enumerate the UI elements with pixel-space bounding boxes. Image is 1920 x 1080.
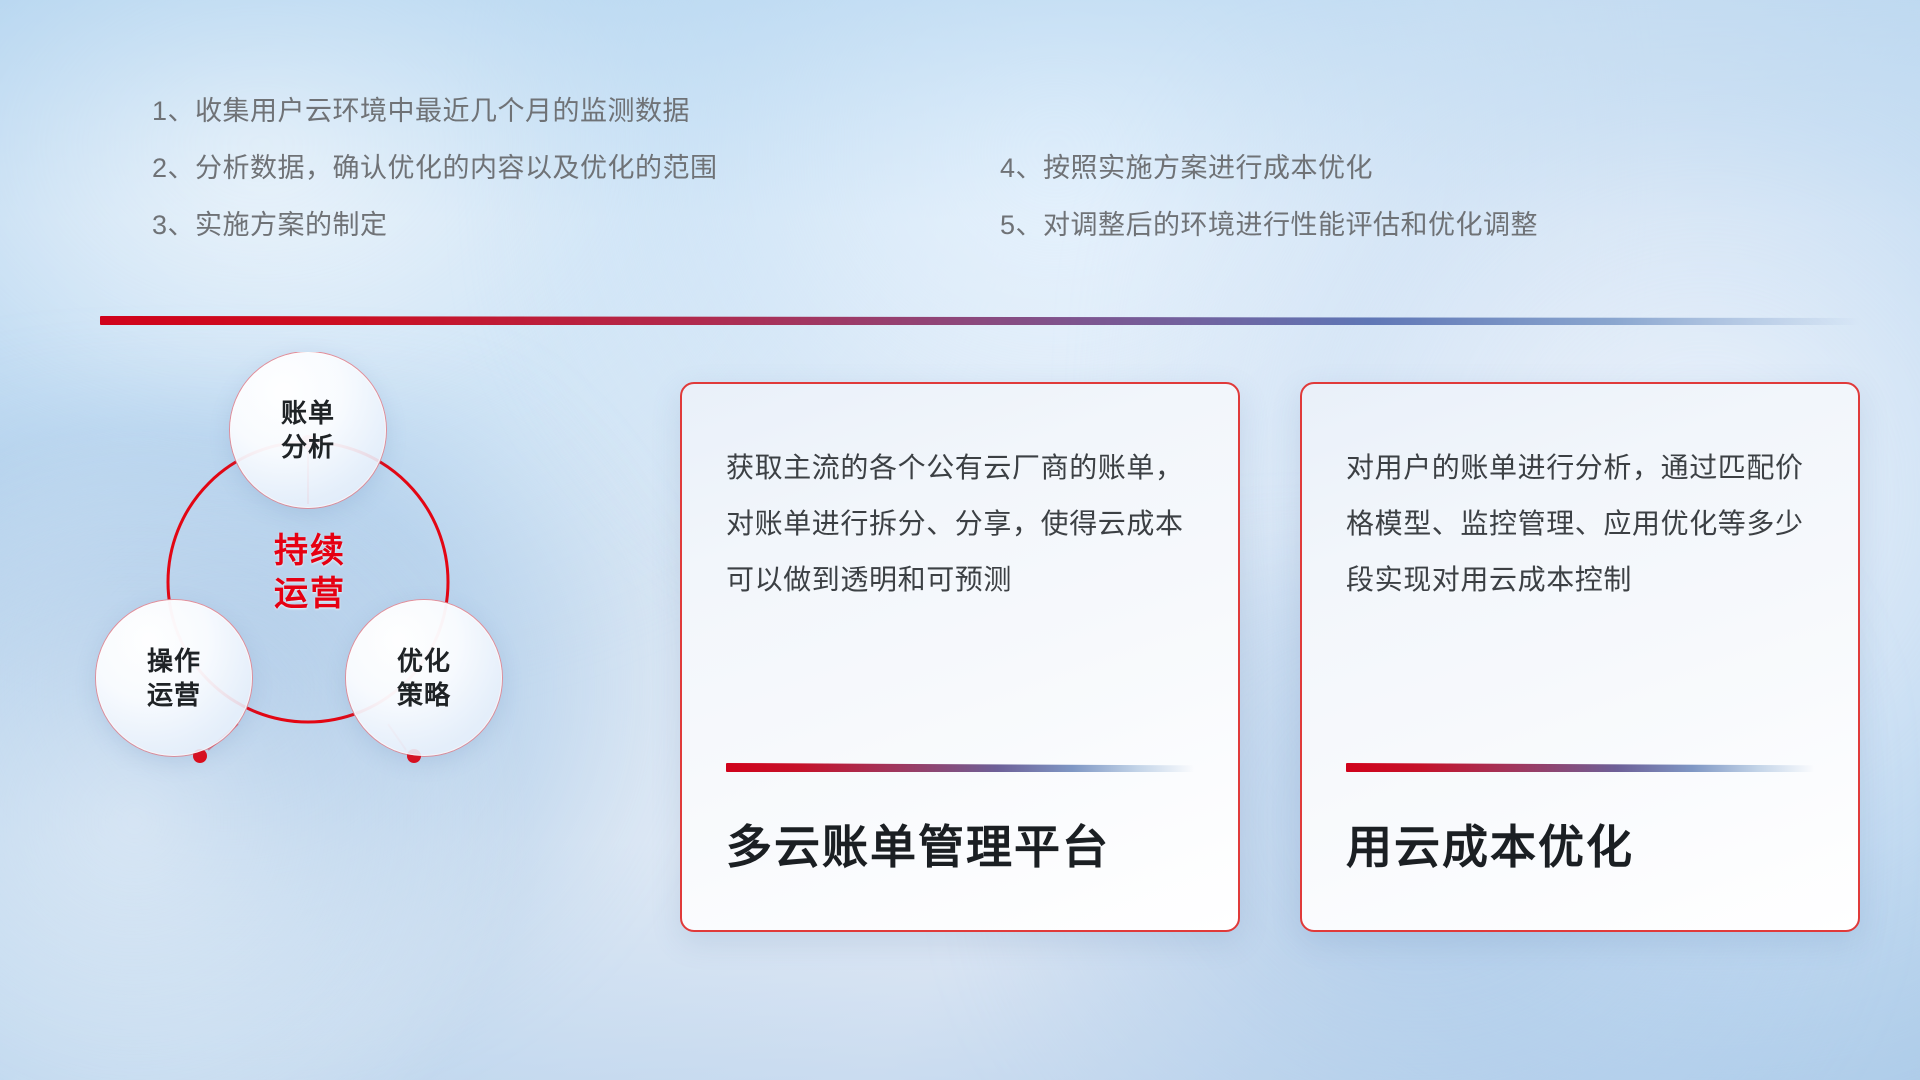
step-item-5: 5、对调整后的环境进行性能评估和优化调整 [1000, 212, 1538, 239]
step-item-1: 1、收集用户云环境中最近几个月的监测数据 [152, 98, 718, 125]
card-multi-cloud-billing-platform[interactable]: 获取主流的各个公有云厂商的账单，对账单进行拆分、分享，使得云成本可以做到透明和可… [680, 382, 1240, 932]
venn-circle-optimization-strategy[interactable]: 优化 策略 [346, 600, 502, 756]
card-cloud-cost-optimization[interactable]: 对用户的账单进行分析，通过匹配价格模型、监控管理、应用优化等多少段实现对用云成本… [1300, 382, 1860, 932]
steps-left-column: 1、收集用户云环境中最近几个月的监测数据 2、分析数据，确认优化的内容以及优化的… [152, 98, 718, 269]
steps-right-column: 4、按照实施方案进行成本优化 5、对调整后的环境进行性能评估和优化调整 [1000, 155, 1538, 269]
step-item-2: 2、分析数据，确认优化的内容以及优化的范围 [152, 155, 718, 182]
card-title: 用云成本优化 [1346, 772, 1814, 930]
venn-diagram: 账单 分析 操作 运营 优化 策略 持续 运营 [88, 352, 608, 852]
card-divider [726, 763, 1194, 772]
venn-circle-operations[interactable]: 操作 运营 [96, 600, 252, 756]
feature-cards: 获取主流的各个公有云厂商的账单，对账单进行拆分、分享，使得云成本可以做到透明和可… [680, 382, 1860, 932]
venn-circle-label: 账单 分析 [281, 396, 335, 465]
card-body-text: 获取主流的各个公有云厂商的账单，对账单进行拆分、分享，使得云成本可以做到透明和可… [726, 440, 1194, 608]
venn-circle-bill-analysis[interactable]: 账单 分析 [230, 352, 386, 508]
venn-circle-label: 优化 策略 [397, 644, 451, 713]
card-title: 多云账单管理平台 [726, 772, 1194, 930]
step-item-3: 3、实施方案的制定 [152, 212, 718, 239]
venn-center-label: 持续 运营 [240, 530, 380, 615]
step-item-4: 4、按照实施方案进行成本优化 [1000, 155, 1538, 182]
card-divider [1346, 763, 1814, 772]
venn-circle-label: 操作 运营 [147, 644, 201, 713]
card-body-text: 对用户的账单进行分析，通过匹配价格模型、监控管理、应用优化等多少段实现对用云成本… [1346, 440, 1814, 608]
